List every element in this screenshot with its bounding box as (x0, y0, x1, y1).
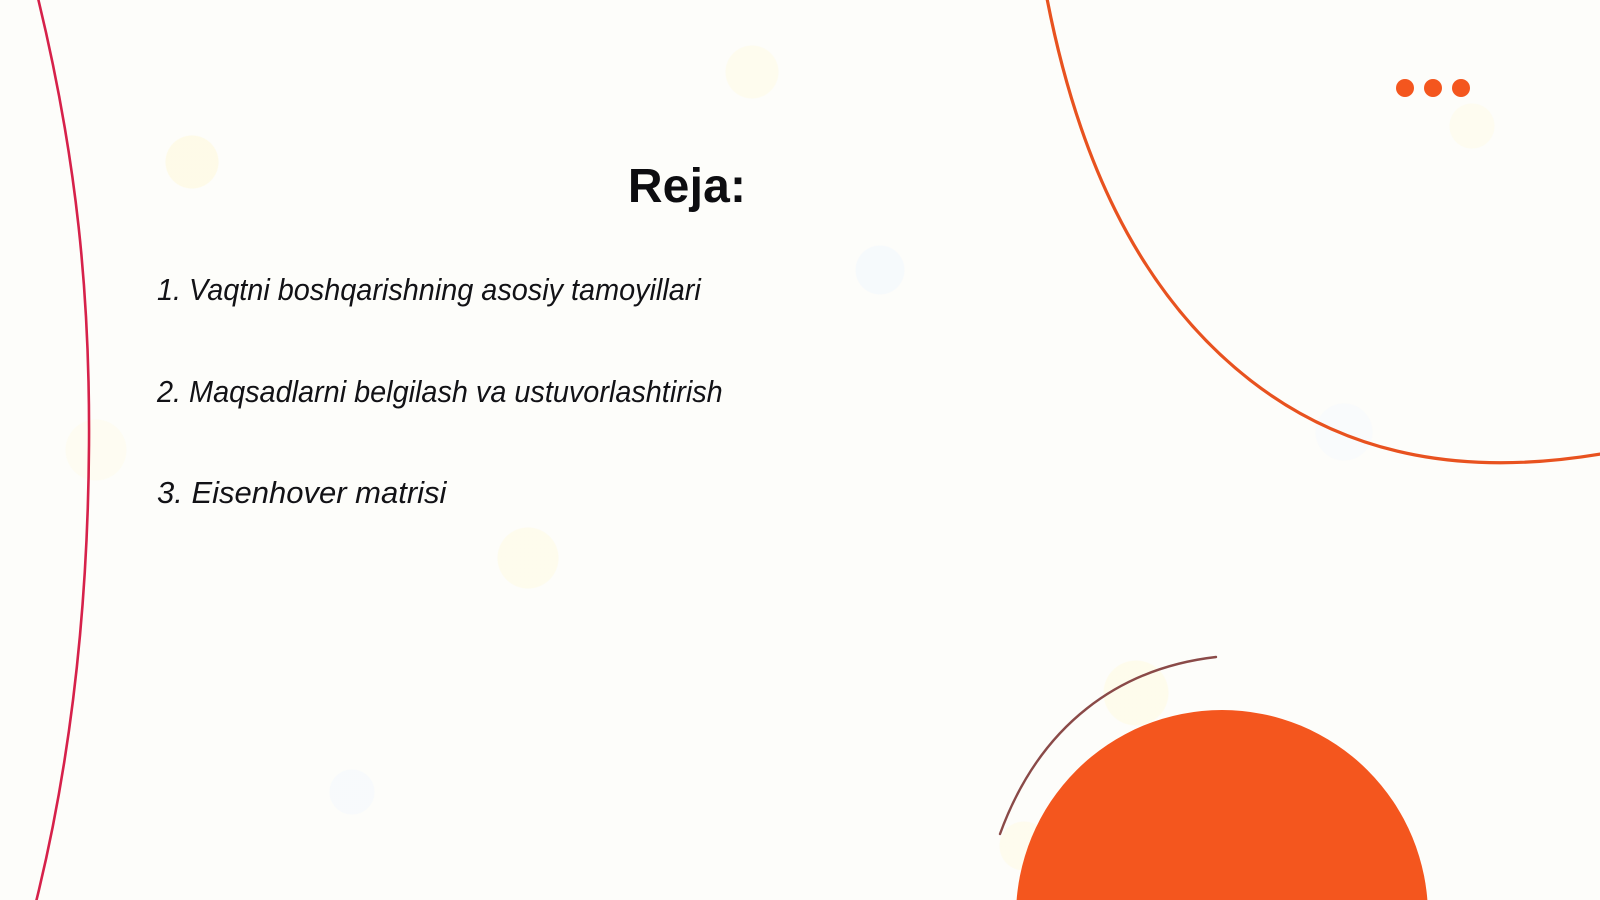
list-item: 1. Vaqtni boshqarishning asosiy tamoyill… (157, 272, 920, 309)
presentation-slide: Reja: 1. Vaqtni boshqarishning asosiy ta… (0, 0, 1600, 900)
dot-2-icon (1424, 79, 1442, 97)
list-item: 3. Eisenhover matrisi (157, 475, 977, 512)
slide-content: Reja: 1. Vaqtni boshqarishning asosiy ta… (0, 0, 1000, 900)
bottom-right-orange-circle (1016, 710, 1428, 900)
dot-group (1396, 79, 1470, 97)
top-right-orange-arc (1045, 0, 1600, 463)
plan-list: 1. Vaqtni boshqarishning asosiy tamoyill… (157, 272, 977, 512)
page-title: Reja: (0, 161, 1374, 214)
dot-1-icon (1396, 79, 1414, 97)
dot-3-icon (1452, 79, 1470, 97)
list-item: 2. Maqsadlarni belgilash va ustuvorlasht… (157, 374, 920, 411)
bottom-right-maroon-arc (1000, 657, 1216, 834)
